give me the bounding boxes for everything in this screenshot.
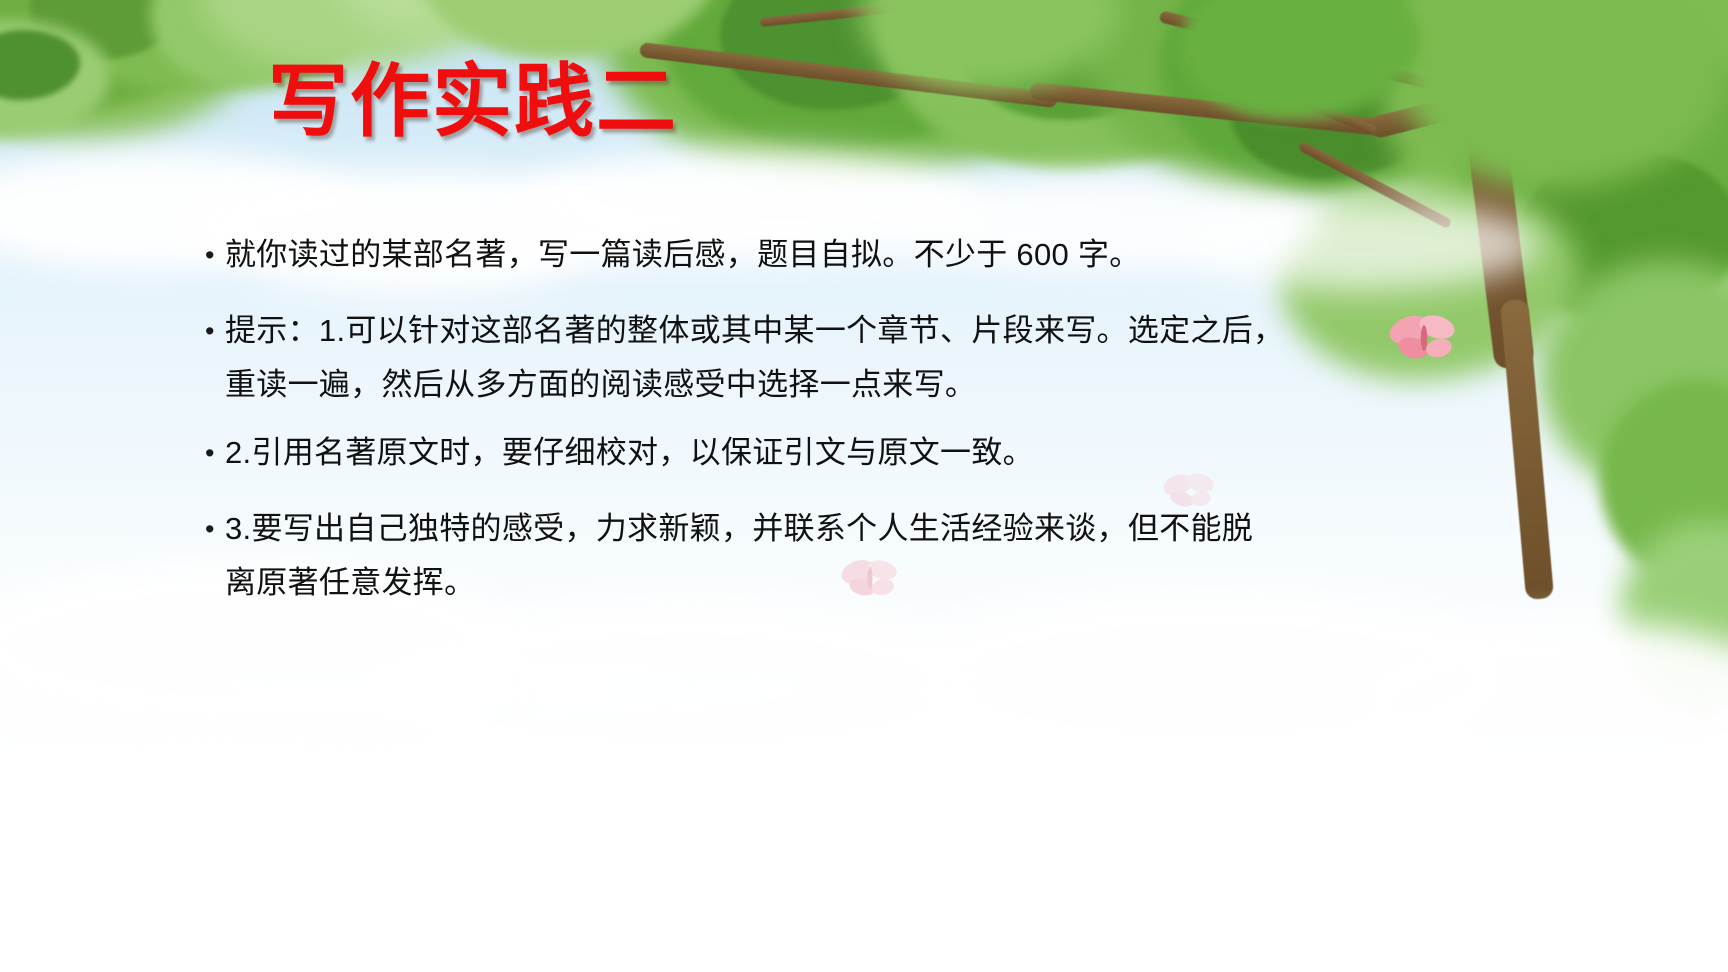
slide-body: • 就你读过的某部名著，写一篇读后感，题目自拟。不少于 600 字。 • 提示：…	[205, 228, 1545, 624]
list-item: • 3.要写出自己独特的感受，力求新颖，并联系个人生活经验来谈，但不能脱 离原著…	[205, 502, 1545, 610]
bullet-text: 就你读过的某部名著，写一篇读后感，题目自拟。不少于 600 字。	[225, 228, 1545, 282]
list-item: • 提示：1.可以针对这部名著的整体或其中某一个章节、片段来写。选定之后， 重读…	[205, 304, 1545, 412]
slide-title: 写作实践二	[268, 60, 678, 144]
presentation-slide: 写作实践二 • 就你读过的某部名著，写一篇读后感，题目自拟。不少于 600 字。…	[0, 0, 1728, 972]
bullet-marker-icon: •	[205, 502, 225, 556]
bullet-text: 2.引用名著原文时，要仔细校对，以保证引文与原文一致。	[225, 426, 1545, 480]
bullet-marker-icon: •	[205, 304, 225, 358]
list-item: • 2.引用名著原文时，要仔细校对，以保证引文与原文一致。	[205, 426, 1545, 480]
bullet-marker-icon: •	[205, 426, 225, 480]
bullet-text: 3.要写出自己独特的感受，力求新颖，并联系个人生活经验来谈，但不能脱 离原著任意…	[225, 502, 1545, 610]
bottom-white-band	[0, 760, 1728, 972]
bullet-text: 提示：1.可以针对这部名著的整体或其中某一个章节、片段来写。选定之后， 重读一遍…	[225, 304, 1545, 412]
list-item: • 就你读过的某部名著，写一篇读后感，题目自拟。不少于 600 字。	[205, 228, 1545, 282]
bullet-marker-icon: •	[205, 228, 225, 282]
